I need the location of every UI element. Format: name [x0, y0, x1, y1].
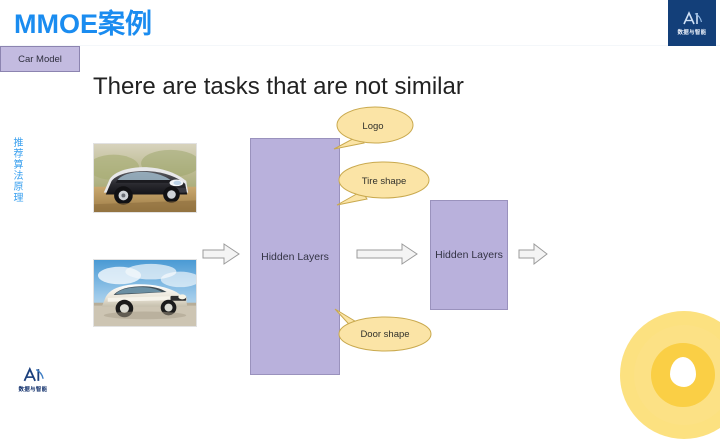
callout-logo: Logo — [330, 105, 416, 153]
car-model-output-label: Car Model — [18, 54, 62, 65]
car-photo-classic — [93, 259, 197, 327]
hidden-layers-block-1: Hidden Layers — [250, 138, 340, 375]
car-photo-modern — [93, 143, 197, 213]
car-model-output-box: Car Model — [0, 46, 80, 72]
arrow-input — [202, 242, 240, 266]
brand-logo-top: 数据与智能 — [668, 0, 716, 46]
callout-tire: Tire shape — [334, 160, 434, 208]
arrow-middle — [356, 242, 418, 266]
hidden-layers-block-1-label: Hidden Layers — [261, 251, 329, 263]
page-title: MMOE案例 — [14, 2, 152, 41]
brand-logo-top-text: 数据与智能 — [677, 28, 706, 36]
diagram-heading: There are tasks that are not similar — [93, 73, 464, 101]
diagram-canvas: There are tasks that are not similar — [0, 46, 720, 405]
ai-monogram-icon — [681, 11, 703, 26]
slide-header: MMOE案例 数据与智能 — [0, 0, 720, 46]
arrow-output — [518, 242, 548, 266]
callout-door: Door shape — [333, 306, 437, 354]
hidden-layers-block-2-label: Hidden Layers — [435, 249, 503, 261]
hidden-layers-block-2: Hidden Layers — [430, 200, 508, 310]
